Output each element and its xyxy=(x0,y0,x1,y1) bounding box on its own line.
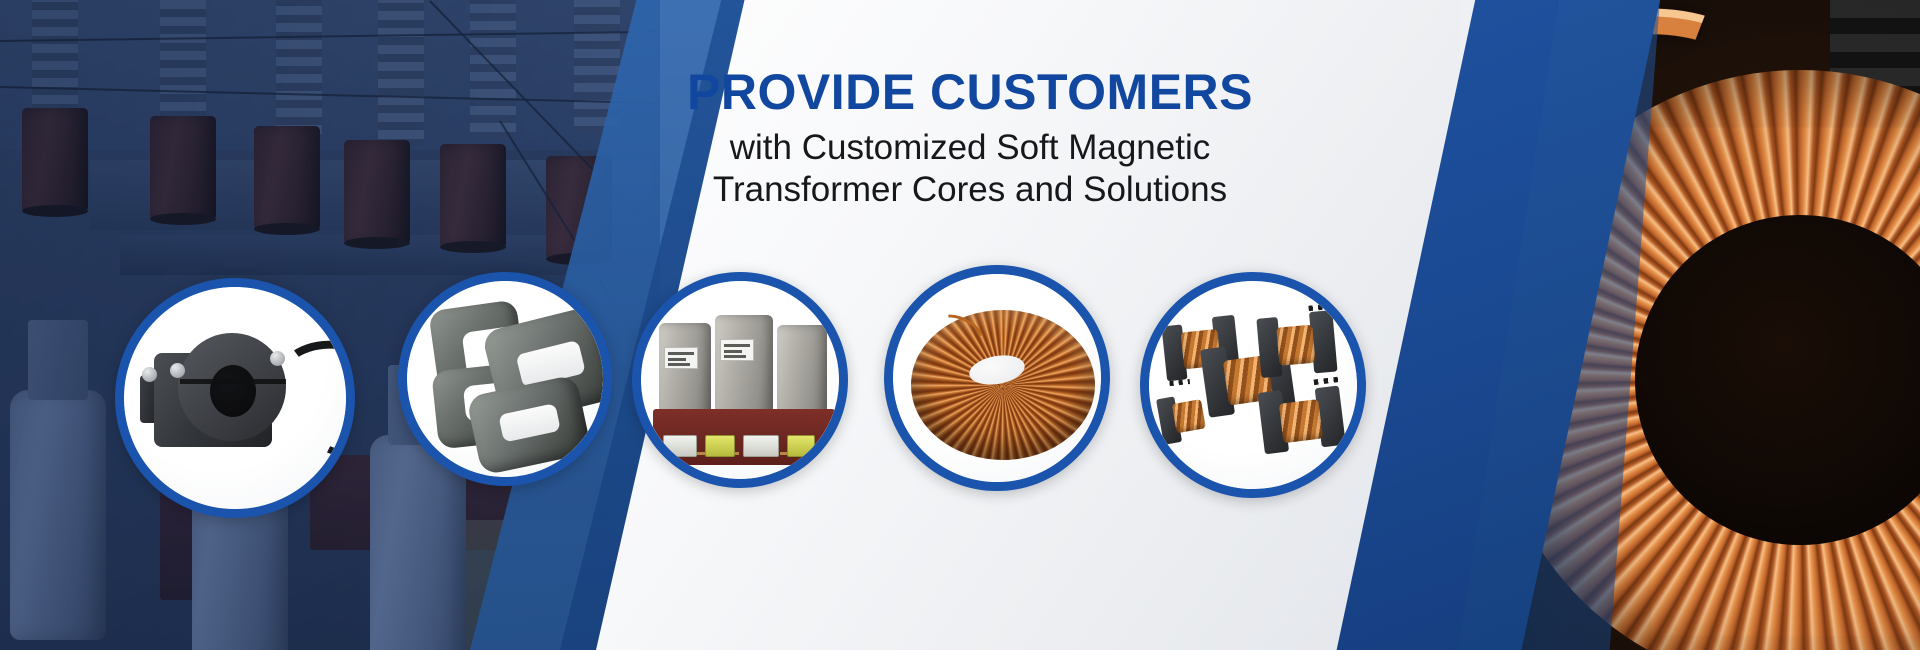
product-circle-ferrite-ei-c-cores[interactable] xyxy=(398,272,612,486)
subheading-line-1: with Customized Soft Magnetic xyxy=(620,127,1320,170)
headline-text-block: PROVIDE CUSTOMERS with Customized Soft M… xyxy=(620,66,1320,212)
pcb-connector xyxy=(705,435,735,457)
choke-unit xyxy=(1258,385,1346,456)
product-image-ferrite-ei-c-cores xyxy=(407,281,603,477)
pcb-connector xyxy=(743,435,779,457)
hero-banner: PROVIDE CUSTOMERS with Customized Soft M… xyxy=(0,0,1920,650)
choke-unit xyxy=(1156,388,1232,451)
choke-unit xyxy=(1256,312,1339,378)
product-circle-split-core-current-transformer[interactable] xyxy=(115,278,355,518)
product-image-split-core-current-transformer xyxy=(124,287,346,509)
pcb-connector xyxy=(663,435,697,457)
product-circle-copper-toroidal-inductor[interactable] xyxy=(884,265,1110,491)
ct-aperture xyxy=(210,365,256,417)
product-image-copper-toroidal-inductor xyxy=(893,274,1101,482)
product-circle-pcb-mounted-transformer-assembly[interactable] xyxy=(632,272,848,488)
product-circle-common-mode-choke-array[interactable] xyxy=(1140,272,1366,498)
ct-screw xyxy=(170,363,185,378)
product-image-common-mode-choke-array xyxy=(1149,281,1357,489)
page-title: PROVIDE CUSTOMERS xyxy=(620,66,1320,119)
pcb-connector xyxy=(787,435,815,457)
ct-screw xyxy=(142,367,157,382)
product-image-pcb-mounted-transformer-assembly xyxy=(641,281,839,479)
ct-split-line xyxy=(180,379,286,384)
subheading-line-2: Transformer Cores and Solutions xyxy=(620,169,1320,212)
